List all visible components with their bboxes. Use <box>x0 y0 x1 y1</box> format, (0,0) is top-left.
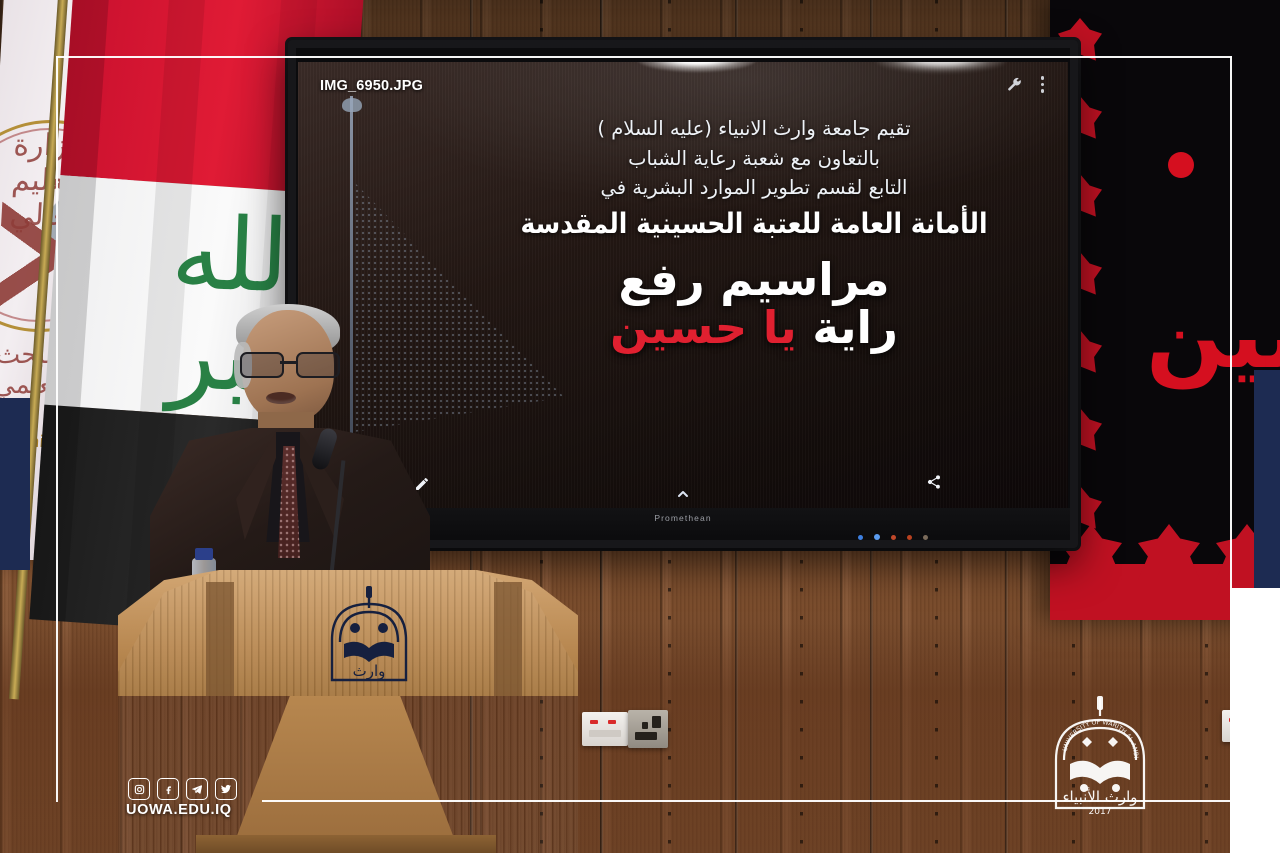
svg-text:وارث الأنبياء: وارث الأنبياء <box>1062 787 1137 806</box>
banner-dot <box>1168 152 1194 178</box>
svg-text:وارث: وارث <box>353 662 386 680</box>
svg-text:UNIVERSITY OF WARITH AL-ANBIYA: UNIVERSITY OF WARITH AL-ANBIYA <box>1036 694 1139 758</box>
facebook-icon[interactable] <box>157 778 179 800</box>
social-links[interactable] <box>128 778 237 800</box>
podium-base <box>196 835 496 853</box>
screenshot-root: حسين وزارة التعليم العالي والبحث العلمي … <box>0 0 1280 853</box>
podium-inlay-left <box>206 582 234 696</box>
water-bottle-cap <box>195 548 213 560</box>
website-url: UOWA.EDU.IQ <box>126 802 232 818</box>
mourning-banner-text: حسين <box>1146 290 1280 382</box>
accent-block-right-bottom <box>1230 588 1280 853</box>
accent-block-left <box>0 398 30 570</box>
twitter-icon[interactable] <box>215 778 237 800</box>
frame-line-left <box>56 56 58 802</box>
wall-socket-power <box>628 710 668 748</box>
mourning-banner: حسين <box>1050 0 1280 620</box>
svg-text:2017: 2017 <box>1089 807 1112 817</box>
accent-block-right <box>1254 370 1280 588</box>
wall-socket-data <box>582 712 628 746</box>
frame-line-right <box>1230 56 1232 802</box>
speaker-glasses <box>240 352 336 374</box>
telegram-icon[interactable] <box>186 778 208 800</box>
speaker-mouth <box>266 392 296 404</box>
frame-line-top <box>56 56 1232 58</box>
instagram-icon[interactable] <box>128 778 150 800</box>
university-logo: UNIVERSITY OF WARITH AL-ANBIYA وارث الأن… <box>1036 694 1164 822</box>
podium-university-emblem: وارث <box>314 584 424 690</box>
podium-inlay-right <box>494 582 522 696</box>
